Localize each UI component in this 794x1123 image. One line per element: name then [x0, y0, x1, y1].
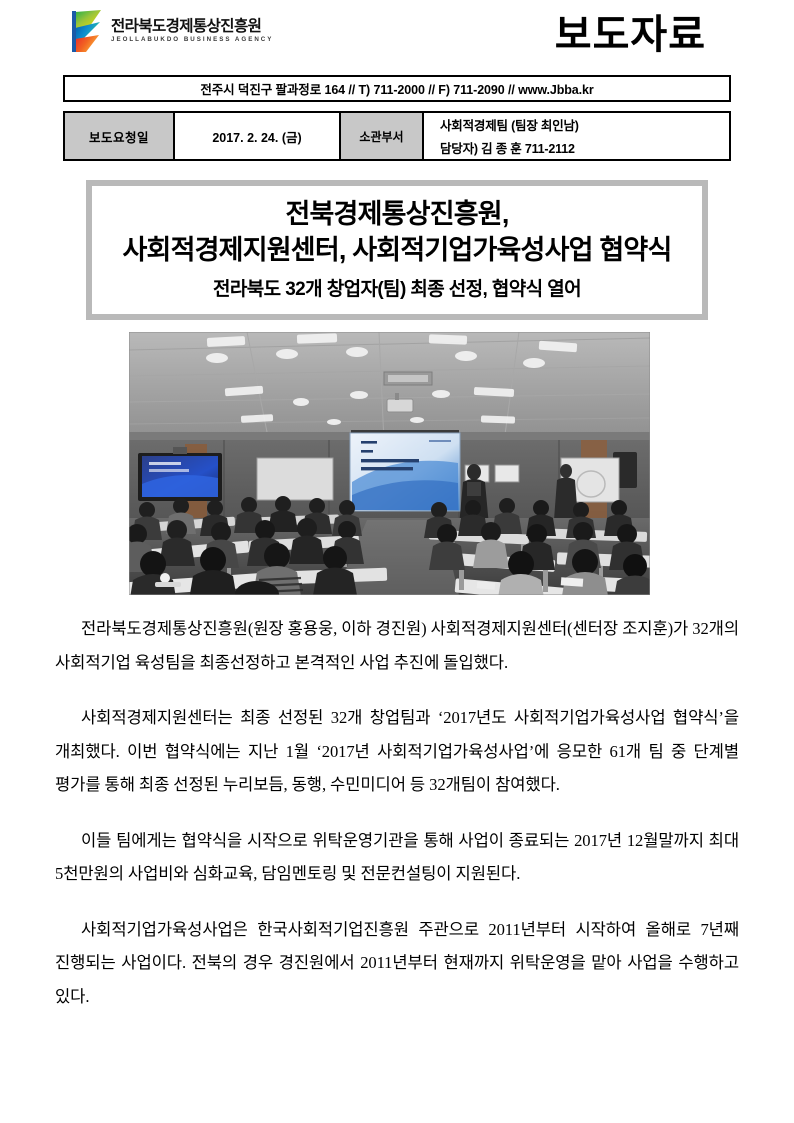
logo-english-name: JEOLLABUKDO BUSINESS AGENCY	[111, 37, 273, 43]
logo-korean-name: 전라북도경제통상진흥원	[111, 19, 273, 35]
organization-logo: 전라북도경제통상진흥원 JEOLLABUKDO BUSINESS AGENCY	[70, 8, 273, 54]
department-contact-person: 담당자) 김 종 훈 711-2112	[440, 138, 575, 157]
logo-wordmark: 전라북도경제통상진흥원 JEOLLABUKDO BUSINESS AGENCY	[111, 19, 273, 44]
paragraph-3: 이들 팀에게는 협약식을 시작으로 위탁운영기관을 통해 사업이 종료되는 20…	[55, 824, 739, 891]
info-table: 보도요청일 2017. 2. 24. (금) 소관부서 사회적경제팀 (팀장 최…	[63, 111, 731, 161]
request-date-value: 2017. 2. 24. (금)	[175, 113, 341, 159]
request-date-label: 보도요청일	[65, 113, 175, 159]
article-body: 전라북도경제통상진흥원(원장 홍용웅, 이하 경진원) 사회적경제지원센터(센터…	[55, 612, 739, 1013]
press-release-page: 전라북도경제통상진흥원 JEOLLABUKDO BUSINESS AGENCY …	[0, 0, 794, 1123]
event-photo	[129, 332, 650, 595]
document-type-title: 보도자료	[555, 2, 706, 60]
headline-line-1: 전북경제통상진흥원,	[285, 197, 508, 233]
department-label: 소관부서	[341, 113, 424, 159]
headline-subtitle: 전라북도 32개 창업자(팀) 최종 선정, 협약식 열어	[213, 274, 581, 301]
headline-box: 전북경제통상진흥원, 사회적경제지원센터, 사회적기업가육성사업 협약식 전라북…	[86, 180, 708, 320]
headline-line-2: 사회적경제지원센터, 사회적기업가육성사업 협약식	[123, 233, 672, 269]
document-header: 전라북도경제통상진흥원 JEOLLABUKDO BUSINESS AGENCY …	[0, 0, 794, 66]
address-text: 전주시 덕진구 팔과정로 164 // T) 711-2000 // F) 71…	[200, 79, 593, 98]
paragraph-4: 사회적기업가육성사업은 한국사회적기업진흥원 주관으로 2011년부터 시작하여…	[55, 913, 739, 1014]
paragraph-1: 전라북도경제통상진흥원(원장 홍용웅, 이하 경진원) 사회적경제지원센터(센터…	[55, 612, 739, 679]
paragraph-2: 사회적경제지원센터는 최종 선정된 32개 창업팀과 ‘2017년도 사회적기업…	[55, 701, 739, 802]
address-bar: 전주시 덕진구 팔과정로 164 // T) 711-2000 // F) 71…	[63, 75, 731, 102]
department-contact-cell: 사회적경제팀 (팀장 최인남) 담당자) 김 종 훈 711-2112	[424, 113, 729, 159]
department-team: 사회적경제팀 (팀장 최인남)	[440, 115, 579, 134]
jbba-logo-icon	[70, 8, 104, 54]
